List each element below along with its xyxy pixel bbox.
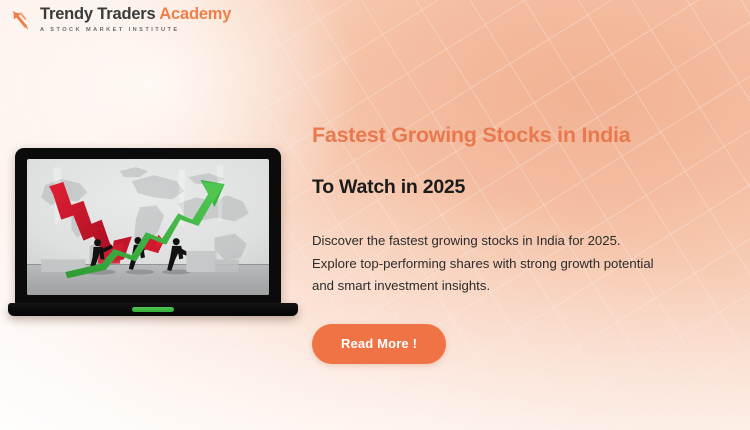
up-arrow-candlestick-icon (9, 7, 35, 33)
brand-name-accent: Academy (159, 5, 231, 23)
laptop-screen (27, 159, 269, 295)
read-more-button[interactable]: Read More ! (312, 324, 446, 364)
laptop-indicator-bar (132, 307, 174, 312)
laptop-base (8, 303, 298, 316)
page-title: Fastest Growing Stocks in India (312, 122, 712, 148)
brand-logo-text: Trendy Traders Academy A STOCK MARKET IN… (40, 6, 231, 33)
brand-logo[interactable]: Trendy Traders Academy A STOCK MARKET IN… (9, 6, 231, 33)
page-subtitle: To Watch in 2025 (312, 176, 712, 200)
brand-name: Trendy Traders Academy (40, 6, 231, 23)
laptop-stock-chart-illustration (8, 148, 298, 323)
businessman-silhouette-3 (167, 238, 189, 271)
screen-chart-graphics (27, 159, 269, 295)
brand-tagline: A STOCK MARKET INSTITUTE (40, 28, 231, 34)
laptop-lid (15, 148, 281, 305)
hero-banner: Trendy Traders Academy A STOCK MARKET IN… (0, 0, 750, 430)
hero-description: Discover the fastest growing stocks in I… (312, 230, 664, 298)
hero-copy-column: Fastest Growing Stocks in India To Watch… (312, 122, 712, 364)
brand-name-primary: Trendy Traders (40, 5, 159, 23)
